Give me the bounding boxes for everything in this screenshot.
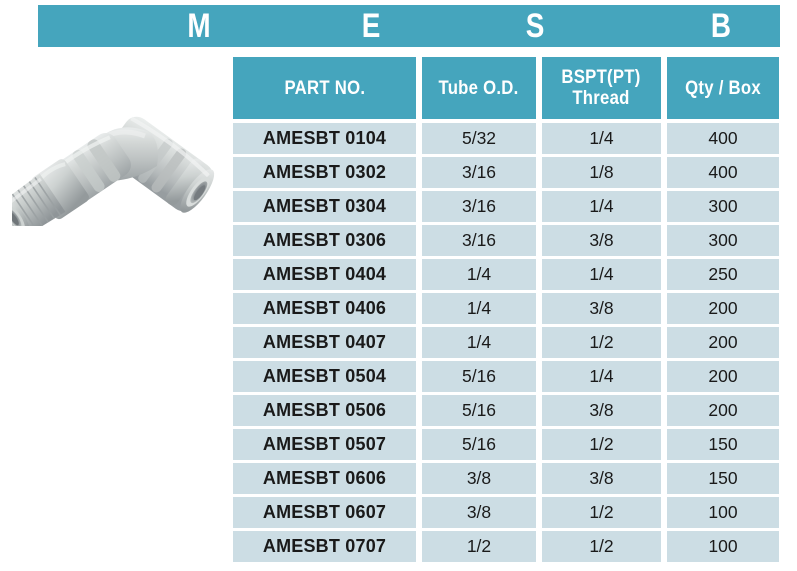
cell-tube-od: 3/8 — [422, 463, 536, 494]
cell-tube-od: 1/4 — [422, 293, 536, 324]
cell-qty-per-box: 150 — [667, 463, 779, 494]
spec-table: PART NO. Tube O.D. BSPT(PT) Thread Qty /… — [233, 57, 779, 565]
cell-thread: 3/8 — [542, 293, 661, 324]
column-header-tube-od-label: Tube O.D. — [439, 78, 519, 99]
cell-tube-od: 5/32 — [422, 123, 536, 154]
column-header-qty-per-box: Qty / Box — [667, 57, 779, 119]
cell-part-no: AMESBT 0302 — [233, 157, 416, 188]
series-banner: MESB — [38, 5, 780, 47]
table-row: AMESBT 05075/161/2150 — [233, 429, 779, 460]
cell-qty-per-box: 200 — [667, 327, 779, 358]
series-letter-m: M — [181, 5, 217, 47]
cell-thread: 1/2 — [542, 531, 661, 562]
cell-tube-od: 3/16 — [422, 157, 536, 188]
cell-tube-od: 1/2 — [422, 531, 536, 562]
cell-part-no: AMESBT 0507 — [233, 429, 416, 460]
cell-qty-per-box: 200 — [667, 361, 779, 392]
cell-qty-per-box: 200 — [667, 395, 779, 426]
cell-tube-od: 1/4 — [422, 327, 536, 358]
cell-thread: 1/4 — [542, 361, 661, 392]
cell-thread: 3/8 — [542, 463, 661, 494]
table-row: AMESBT 03023/161/8400 — [233, 157, 779, 188]
column-header-thread: BSPT(PT) Thread — [542, 57, 661, 119]
cell-thread: 1/2 — [542, 429, 661, 460]
table-row: AMESBT 05065/163/8200 — [233, 395, 779, 426]
series-letter-e: E — [355, 5, 388, 47]
table-row: AMESBT 03063/163/8300 — [233, 225, 779, 256]
cell-part-no: AMESBT 0406 — [233, 293, 416, 324]
cell-thread: 1/4 — [542, 191, 661, 222]
cell-qty-per-box: 400 — [667, 123, 779, 154]
cell-thread: 3/8 — [542, 395, 661, 426]
cell-tube-od: 5/16 — [422, 395, 536, 426]
cell-tube-od: 1/4 — [422, 259, 536, 290]
elbow-fitting-icon — [12, 108, 227, 226]
cell-thread: 1/8 — [542, 157, 661, 188]
cell-tube-od: 5/16 — [422, 429, 536, 460]
table-row: AMESBT 04041/41/4250 — [233, 259, 779, 290]
cell-tube-od: 3/16 — [422, 191, 536, 222]
cell-part-no: AMESBT 0306 — [233, 225, 416, 256]
cell-part-no: AMESBT 0504 — [233, 361, 416, 392]
cell-qty-per-box: 100 — [667, 531, 779, 562]
column-header-tube-od: Tube O.D. — [422, 57, 536, 119]
cell-part-no: AMESBT 0104 — [233, 123, 416, 154]
cell-qty-per-box: 100 — [667, 497, 779, 528]
column-header-part-no-label: PART NO. — [284, 78, 365, 99]
cell-thread: 1/2 — [542, 327, 661, 358]
table-row: AMESBT 05045/161/4200 — [233, 361, 779, 392]
cell-qty-per-box: 400 — [667, 157, 779, 188]
column-header-part-no: PART NO. — [233, 57, 416, 119]
column-header-thread-label: BSPT(PT) Thread — [562, 67, 641, 109]
cell-thread: 1/2 — [542, 497, 661, 528]
cell-part-no: AMESBT 0404 — [233, 259, 416, 290]
table-row: AMESBT 04071/41/2200 — [233, 327, 779, 358]
table-header-row: PART NO. Tube O.D. BSPT(PT) Thread Qty /… — [233, 57, 779, 119]
cell-qty-per-box: 300 — [667, 191, 779, 222]
table-row: AMESBT 01045/321/4400 — [233, 123, 779, 154]
cell-tube-od: 5/16 — [422, 361, 536, 392]
product-photo — [12, 108, 227, 226]
table-row: AMESBT 06063/83/8150 — [233, 463, 779, 494]
cell-tube-od: 3/16 — [422, 225, 536, 256]
cell-qty-per-box: 250 — [667, 259, 779, 290]
cell-part-no: AMESBT 0707 — [233, 531, 416, 562]
table-row: AMESBT 04061/43/8200 — [233, 293, 779, 324]
table-row: AMESBT 06073/81/2100 — [233, 497, 779, 528]
cell-part-no: AMESBT 0606 — [233, 463, 416, 494]
table-row: AMESBT 03043/161/4300 — [233, 191, 779, 222]
cell-part-no: AMESBT 0304 — [233, 191, 416, 222]
table-body: AMESBT 01045/321/4400AMESBT 03023/161/84… — [233, 123, 779, 562]
cell-qty-per-box: 150 — [667, 429, 779, 460]
cell-qty-per-box: 300 — [667, 225, 779, 256]
column-header-qty-per-box-label: Qty / Box — [685, 78, 761, 99]
cell-thread: 1/4 — [542, 259, 661, 290]
series-letter-s: S — [519, 5, 552, 47]
table-row: AMESBT 07071/21/2100 — [233, 531, 779, 562]
series-letter-b: B — [705, 5, 738, 47]
cell-part-no: AMESBT 0407 — [233, 327, 416, 358]
cell-part-no: AMESBT 0506 — [233, 395, 416, 426]
cell-part-no: AMESBT 0607 — [233, 497, 416, 528]
cell-qty-per-box: 200 — [667, 293, 779, 324]
cell-thread: 1/4 — [542, 123, 661, 154]
cell-tube-od: 3/8 — [422, 497, 536, 528]
cell-thread: 3/8 — [542, 225, 661, 256]
